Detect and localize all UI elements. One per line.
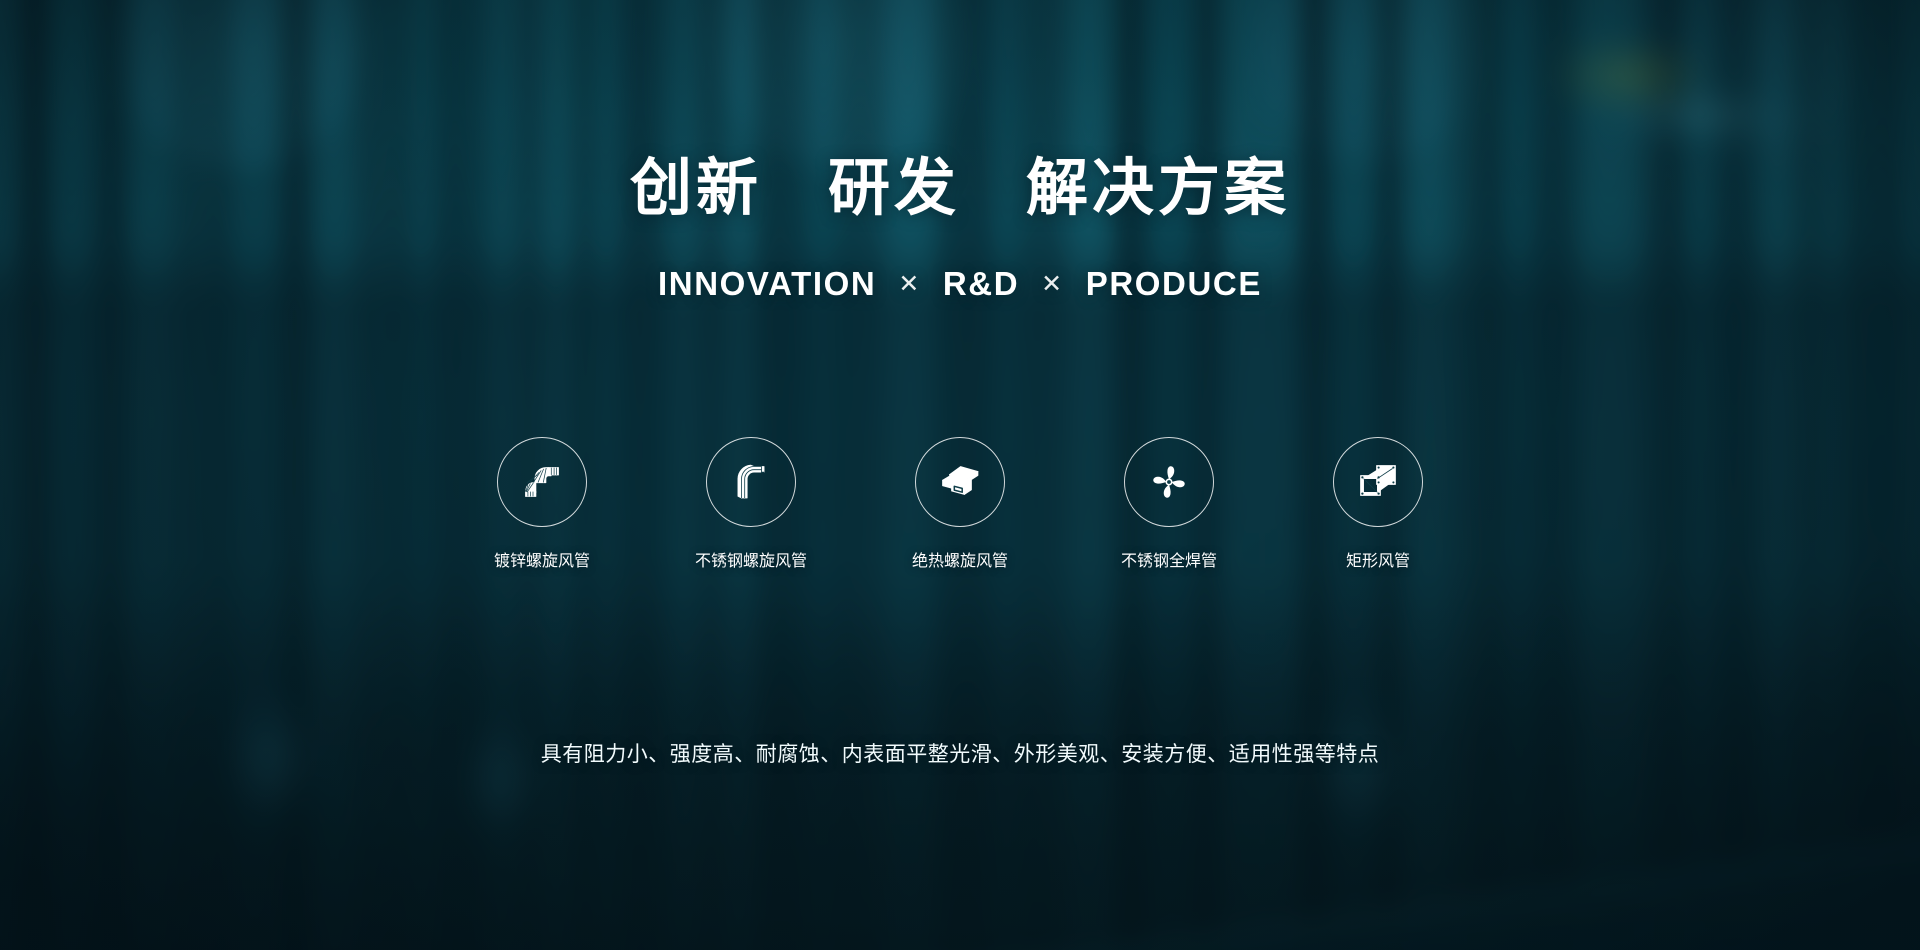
insulated-duct-icon [936,458,984,506]
banner-headline: 创新 研发 解决方案 [0,158,1920,220]
product-item-insulated-spiral-duct[interactable]: 绝热螺旋风管 [914,437,1006,570]
product-icon-circle [706,437,796,527]
product-item-rectangular-duct[interactable]: 矩形风管 [1332,437,1424,570]
banner-subtitle: INNOVATION ✕ R&D ✕ PRODUCE [0,267,1920,300]
spiral-duct-bend-icon [518,458,566,506]
banner-footnote: 具有阻力小、强度高、耐腐蚀、内表面平整光滑、外形美观、安装方便、适用性强等特点 [0,744,1920,765]
product-label: 不锈钢全焊管 [1121,554,1217,570]
fan-blade-icon [1145,458,1193,506]
product-item-galvanized-spiral-duct[interactable]: 镀锌螺旋风管 [496,437,588,570]
product-label: 不锈钢螺旋风管 [695,554,807,570]
stainless-spiral-elbow-icon [727,458,775,506]
product-icon-circle [915,437,1005,527]
product-icon-circle [1333,437,1423,527]
subtitle-word-produce: PRODUCE [1086,267,1262,300]
subtitle-separator-icon: ✕ [898,272,921,297]
product-item-stainless-welded-pipe[interactable]: 不锈钢全焊管 [1123,437,1215,570]
subtitle-word-innovation: INNOVATION [658,267,876,300]
product-item-stainless-spiral-duct[interactable]: 不锈钢螺旋风管 [705,437,797,570]
rectangular-duct-icon [1354,458,1402,506]
product-icon-circle [1124,437,1214,527]
product-icon-circle [497,437,587,527]
product-label: 绝热螺旋风管 [912,554,1008,570]
subtitle-separator-icon: ✕ [1041,272,1064,297]
product-label: 镀锌螺旋风管 [494,554,590,570]
hero-banner: 创新 研发 解决方案 INNOVATION ✕ R&D ✕ PRODUCE [0,0,1920,950]
product-label: 矩形风管 [1346,554,1410,570]
subtitle-word-rnd: R&D [943,267,1019,300]
banner-content: 创新 研发 解决方案 INNOVATION ✕ R&D ✕ PRODUCE [0,0,1920,950]
product-icon-row: 镀锌螺旋风管 [0,437,1920,570]
